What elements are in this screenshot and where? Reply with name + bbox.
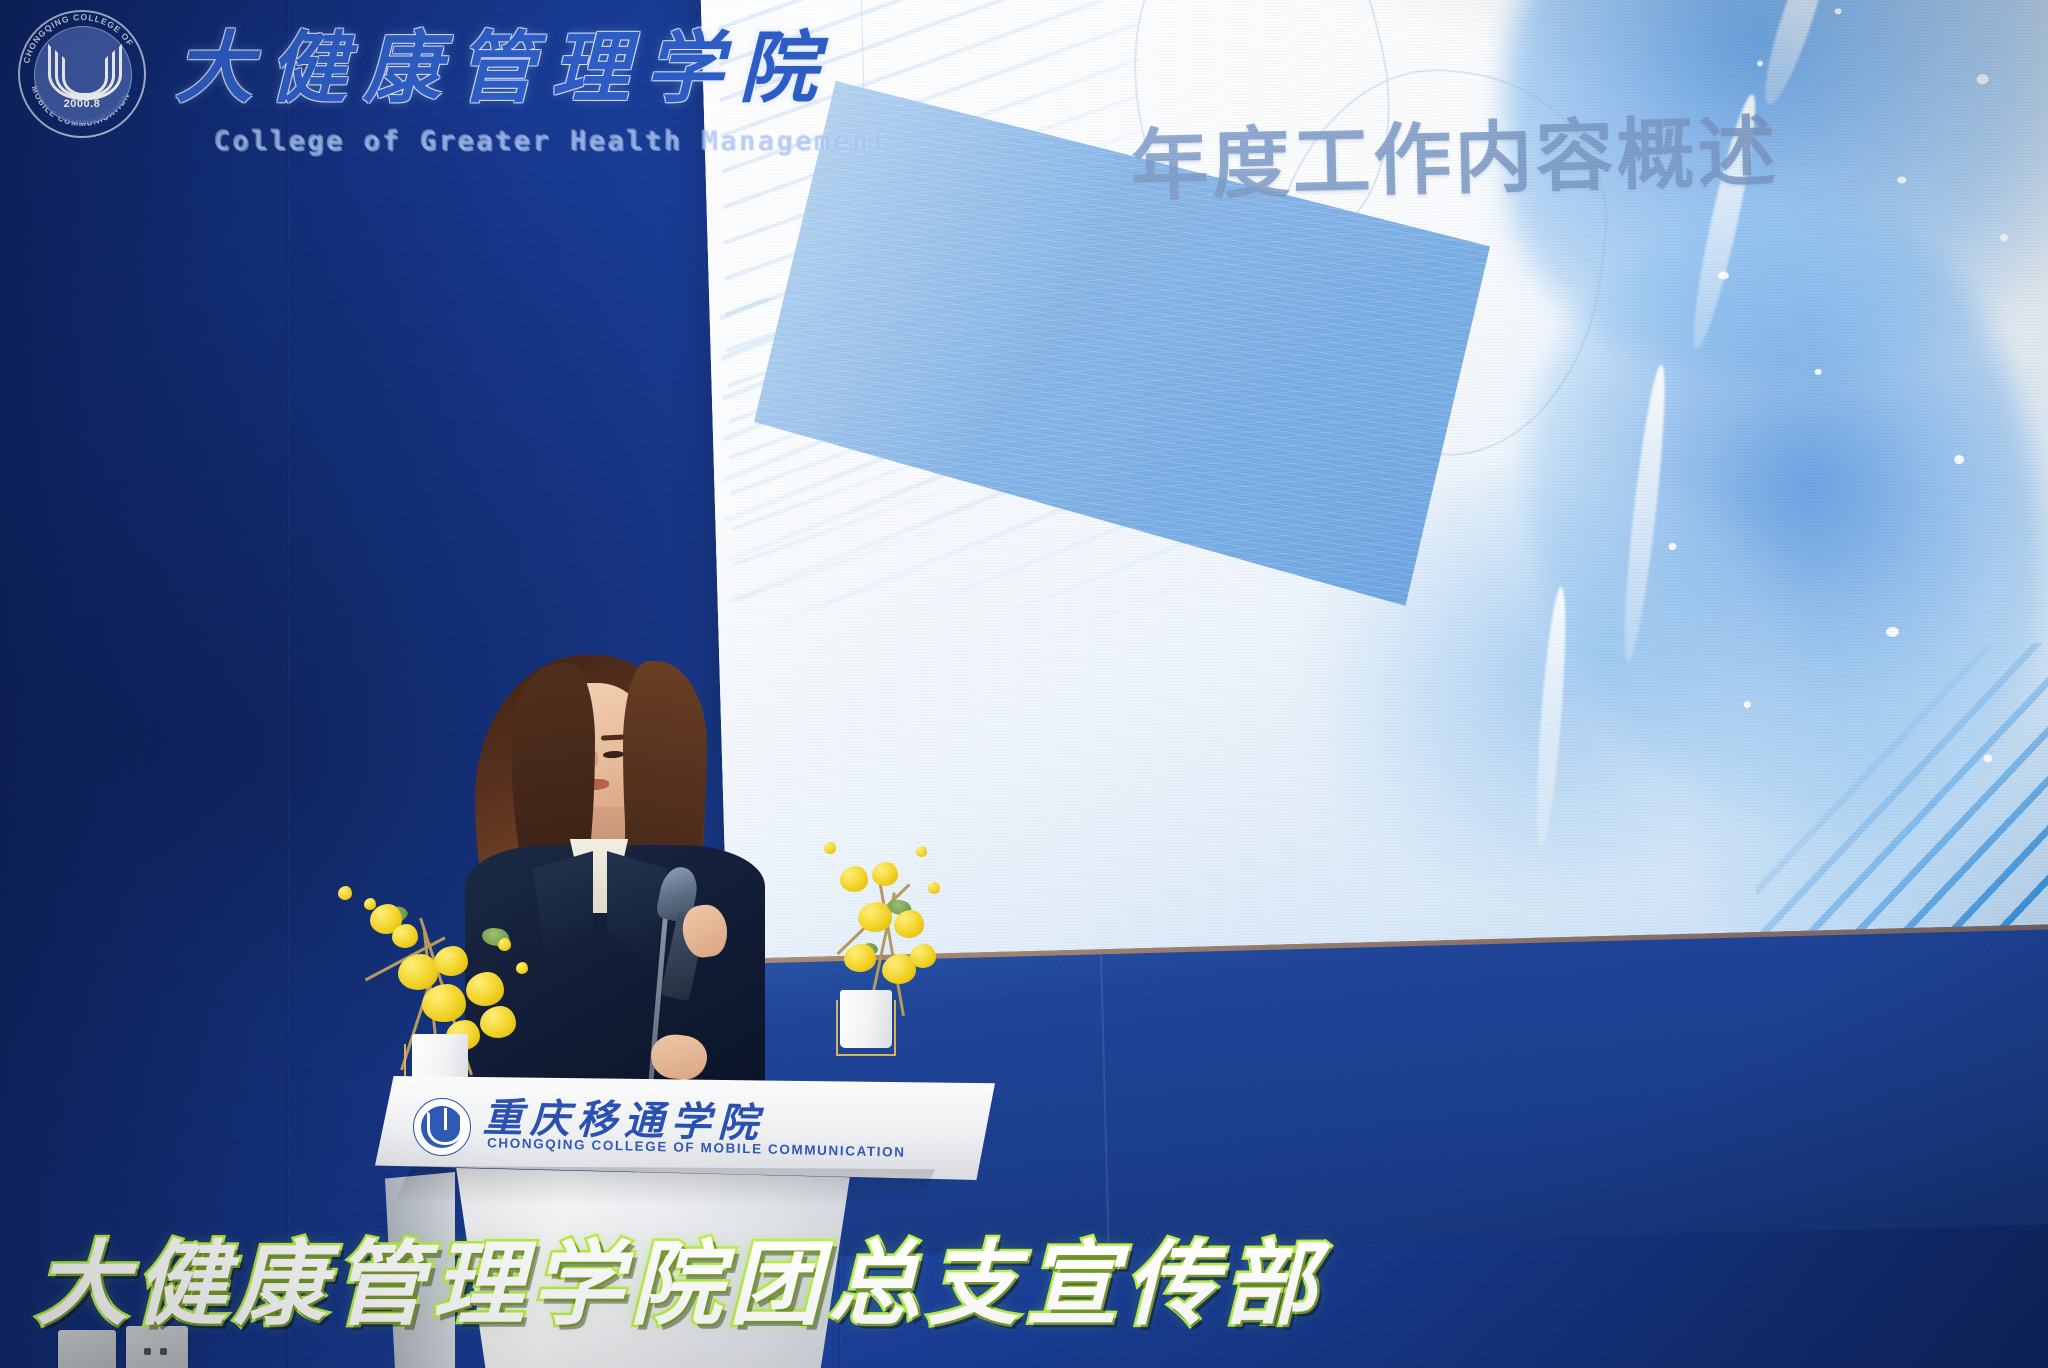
flower [858, 902, 892, 932]
college-seal-logo: CHONGQING COLLEGE OF MOBILE COMMUNICATIO… [18, 10, 146, 138]
flower-bud [498, 938, 511, 951]
seal-tri-glyph [48, 38, 116, 100]
slide-title: 年度工作内容概述 [1129, 90, 1779, 217]
flower [894, 910, 924, 938]
diagonal-stripe-block [1749, 642, 2048, 951]
wall-seam [286, 0, 289, 1368]
flower [840, 866, 868, 892]
flower [910, 944, 936, 968]
college-seal-icon [413, 1098, 471, 1156]
flower [466, 972, 504, 1006]
banner-title-cn: 大健康管理学院 [175, 6, 833, 118]
event-photo-stage: 年度工作内容概述 [0, 0, 2048, 1368]
flower [872, 862, 898, 886]
flower-bud [824, 842, 836, 854]
banner-title-en: College of Greater Health Management [214, 126, 889, 157]
podium-top-panel: 重庆移通学院 CHONGQING COLLEGE OF MOBILE COMMU… [375, 1076, 995, 1180]
flower [398, 954, 438, 990]
podium-emblem [630, 1363, 752, 1368]
flower [480, 1006, 516, 1038]
flower [844, 944, 876, 972]
presentation-screen: 年度工作内容概述 [700, 0, 2048, 980]
bottom-caption: 大健康管理学院团总支宣传部 [36, 1210, 1323, 1343]
flower-bud [916, 846, 927, 857]
flower [392, 924, 418, 948]
vase-right [840, 990, 892, 1048]
flower-bud [928, 882, 940, 894]
flower-bud [516, 962, 528, 974]
seal-year: 2000.8 [18, 98, 146, 110]
flower [422, 984, 466, 1022]
flower [434, 946, 468, 976]
flower-bud [338, 886, 352, 900]
